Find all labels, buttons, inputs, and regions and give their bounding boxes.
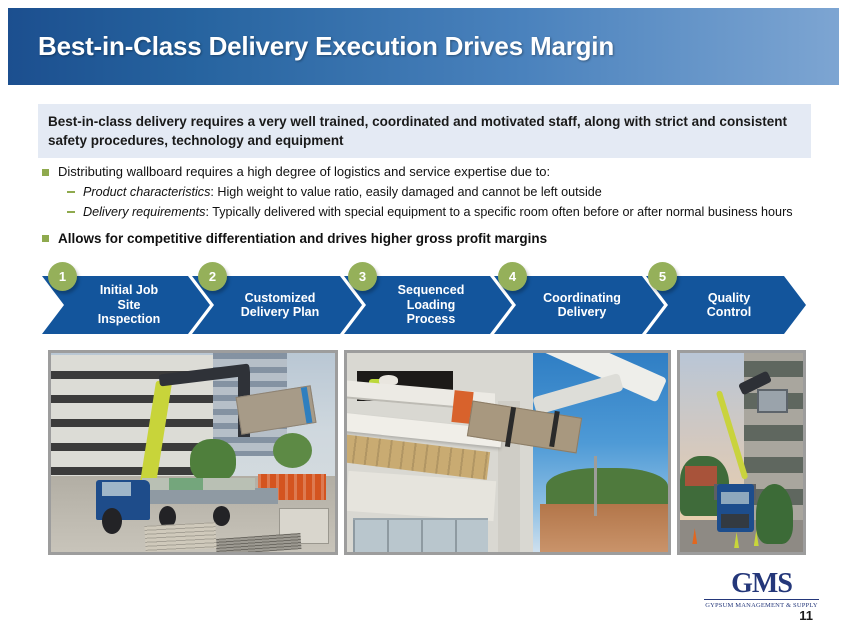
- page-number: 11: [799, 608, 813, 623]
- bullet-spacer: [42, 222, 832, 229]
- page-title: Best-in-Class Delivery Execution Drives …: [38, 31, 614, 62]
- bullet-sub-text: Product characteristics: High weight to …: [83, 183, 602, 201]
- callout-box: Best-in-class delivery requires a very w…: [38, 104, 811, 158]
- photo-boom-truck-dusk: [677, 350, 806, 555]
- bullet-sub-text: Delivery requirements: Typically deliver…: [83, 203, 793, 221]
- bullet-sub-rest: : Typically delivered with special equip…: [205, 205, 792, 219]
- bullet-primary-label: Distributing wallboard requires a high d…: [58, 163, 550, 181]
- process-step-3-label: Sequenced Loading Process: [376, 283, 481, 327]
- bullet-closing: Allows for competitive differentiation a…: [42, 229, 832, 248]
- dash-bullet-icon: [67, 211, 75, 213]
- photo-boom-lift-second-story: [344, 350, 671, 555]
- bullet-sub-item: Delivery requirements: Typically deliver…: [67, 203, 832, 221]
- process-step-4-number: 4: [498, 262, 527, 291]
- slide-header-banner: Best-in-Class Delivery Execution Drives …: [8, 8, 839, 85]
- process-step-2-number: 2: [198, 262, 227, 291]
- bullet-sub-rest: : High weight to value ratio, easily dam…: [210, 185, 601, 199]
- process-step-1-number: 1: [48, 262, 77, 291]
- bullet-list: Distributing wallboard requires a high d…: [42, 163, 832, 250]
- process-step-1-label: Initial Job Site Inspection: [76, 283, 177, 327]
- dash-bullet-icon: [67, 191, 75, 193]
- logo-mark-text: GMS: [704, 570, 819, 600]
- bullet-sub-item: Product characteristics: High weight to …: [67, 183, 832, 201]
- bullet-sublist: Product characteristics: High weight to …: [67, 183, 832, 221]
- process-flow: Initial Job Site Inspection 1 Customized…: [42, 276, 806, 338]
- photo-jobsite-crane-truck: [48, 350, 338, 555]
- callout-text: Best-in-class delivery requires a very w…: [48, 112, 799, 150]
- process-step-5-label: Quality Control: [685, 291, 767, 320]
- square-bullet-icon: [42, 235, 49, 242]
- photo-strip: [48, 350, 806, 555]
- company-logo: GMS GYPSUM MANAGEMENT & SUPPLY: [704, 570, 819, 609]
- process-step-3-number: 3: [348, 262, 377, 291]
- bullet-closing-label: Allows for competitive differentiation a…: [58, 229, 547, 248]
- process-step-4-label: Coordinating Delivery: [521, 291, 637, 320]
- process-step-5-number: 5: [648, 262, 677, 291]
- process-step-2-label: Customized Delivery Plan: [219, 291, 336, 320]
- bullet-primary: Distributing wallboard requires a high d…: [42, 163, 832, 181]
- square-bullet-icon: [42, 169, 49, 176]
- bullet-sub-lead: Delivery requirements: [83, 205, 205, 219]
- bullet-sub-lead: Product characteristics: [83, 185, 210, 199]
